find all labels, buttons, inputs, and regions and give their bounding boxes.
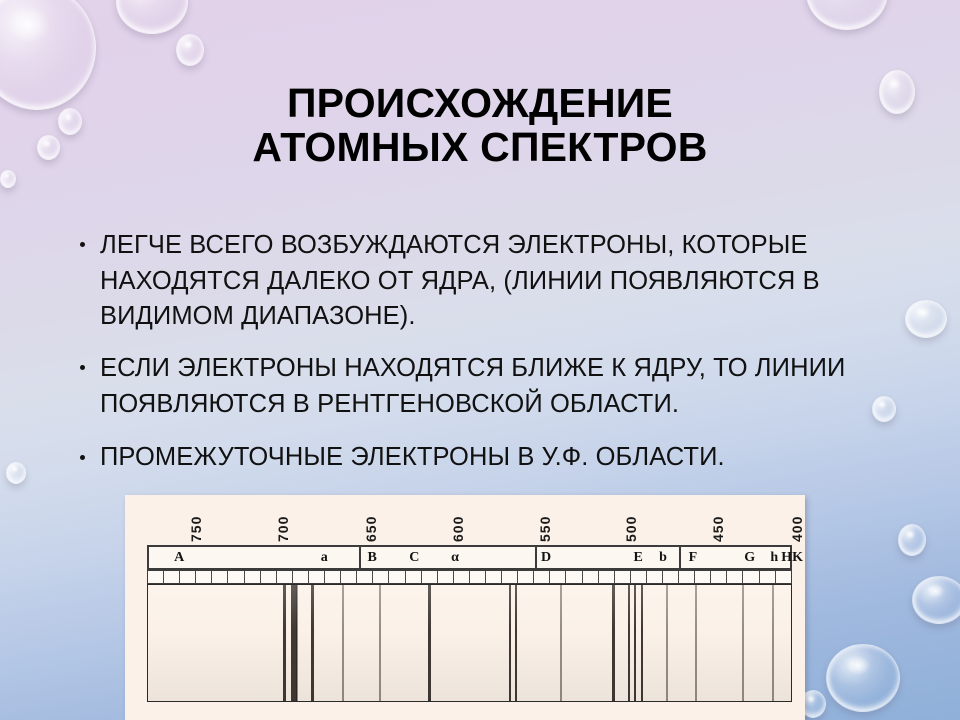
tick-mark <box>631 571 647 583</box>
tick-mark <box>406 571 422 583</box>
title-line-1: ПРОИСХОЖДЕНИЕ <box>287 80 673 126</box>
bullet-dot-icon <box>80 365 85 370</box>
title-line-2: АТОМНЫХ СПЕКТРОВ <box>60 126 900 170</box>
tick-mark <box>647 571 663 583</box>
water-droplet-icon <box>806 0 888 30</box>
water-droplet-icon <box>898 524 926 556</box>
list-item: ЕСЛИ ЭЛЕКТРОНЫ НАХОДЯТСЯ БЛИЖЕ К ЯДРУ, Т… <box>72 351 882 422</box>
tick-mark <box>711 571 727 583</box>
tick-mark <box>357 571 373 583</box>
wavelength-tick-label: 700 <box>275 516 291 542</box>
fraunhofer-line-label: C <box>409 548 419 568</box>
tick-mark <box>277 571 293 583</box>
absorption-line <box>666 585 668 701</box>
absorption-line <box>296 585 298 701</box>
tick-mark <box>550 571 566 583</box>
tick-mark <box>180 571 196 583</box>
tick-mark <box>325 571 341 583</box>
absorption-line <box>379 585 381 701</box>
absorption-line <box>560 585 562 701</box>
tick-mark <box>743 571 759 583</box>
solar-spectrum-figure: 750700650600550500450400 AaBCαDEbFGhHK <box>125 495 805 720</box>
tick-mark <box>341 571 357 583</box>
absorption-line <box>695 585 697 701</box>
wavelength-axis: 750700650600550500450400 <box>125 498 805 546</box>
fraunhofer-line-label: h <box>770 548 778 568</box>
list-item-text: ПРОМЕЖУТОЧНЫЕ ЭЛЕКТРОНЫ В У.Ф. ОБЛАСТИ. <box>100 443 725 471</box>
tick-mark <box>373 571 389 583</box>
wavelength-tick-label: 450 <box>710 516 726 542</box>
list-item: ЛЕГЧЕ ВСЕГО ВОЗБУЖДАЮТСЯ ЭЛЕКТРОНЫ, КОТО… <box>72 228 882 335</box>
tick-mark <box>454 571 470 583</box>
absorption-line <box>311 585 314 701</box>
wavelength-tick-label: 400 <box>789 516 805 542</box>
tick-mark <box>438 571 454 583</box>
tick-mark <box>389 571 405 583</box>
wavelength-tick-label: 550 <box>537 516 553 542</box>
tick-mark <box>293 571 309 583</box>
fraunhofer-line-label: A <box>174 548 184 568</box>
tick-mark <box>583 571 599 583</box>
fraunhofer-group: DEb <box>537 547 681 568</box>
absorption-line <box>628 585 630 701</box>
absorption-line <box>742 585 744 701</box>
fraunhofer-line-label: G <box>744 548 755 568</box>
spectrum-strip <box>147 584 792 702</box>
tick-mark <box>196 571 212 583</box>
water-droplet-icon <box>176 34 204 66</box>
tick-mark <box>164 571 180 583</box>
fraunhofer-line-label: b <box>659 548 667 568</box>
fraunhofer-line-label: E <box>633 548 642 568</box>
fraunhofer-line-label: α <box>451 548 459 568</box>
list-item: ПРОМЕЖУТОЧНЫЕ ЭЛЕКТРОНЫ В У.Ф. ОБЛАСТИ. <box>72 440 882 476</box>
tick-mark <box>486 571 502 583</box>
bullet-dot-icon <box>80 242 85 247</box>
tick-mark <box>534 571 550 583</box>
absorption-line <box>509 585 511 701</box>
tick-mark <box>663 571 679 583</box>
list-item-text: ЛЕГЧЕ ВСЕГО ВОЗБУЖДАЮТСЯ ЭЛЕКТРОНЫ, КОТО… <box>100 231 820 330</box>
absorption-line <box>515 585 517 701</box>
fraunhofer-line-label: F <box>689 548 698 568</box>
absorption-line <box>428 585 431 701</box>
wavelength-tick-label: 600 <box>450 516 466 542</box>
tick-ruler <box>147 570 792 584</box>
absorption-line <box>641 585 643 701</box>
bullet-dot-icon <box>80 455 85 460</box>
tick-mark <box>212 571 228 583</box>
wavelength-tick-label: 500 <box>623 516 639 542</box>
absorption-line <box>772 585 774 701</box>
tick-mark <box>599 571 615 583</box>
tick-mark <box>679 571 695 583</box>
water-droplet-icon <box>37 135 60 160</box>
tick-mark <box>148 571 164 583</box>
tick-mark <box>566 571 582 583</box>
absorption-line <box>634 585 636 701</box>
tick-mark <box>261 571 277 583</box>
fraunhofer-group: FGhHK <box>681 547 790 568</box>
tick-mark <box>760 571 776 583</box>
fraunhofer-line-label: a <box>321 548 328 568</box>
tick-mark <box>309 571 325 583</box>
tick-mark <box>615 571 631 583</box>
water-droplet-icon <box>6 462 26 484</box>
list-item-text: ЕСЛИ ЭЛЕКТРОНЫ НАХОДЯТСЯ БЛИЖЕ К ЯДРУ, Т… <box>100 354 845 418</box>
fraunhofer-group: BCα <box>361 547 537 568</box>
tick-mark <box>470 571 486 583</box>
water-droplet-icon <box>826 644 900 712</box>
tick-mark <box>727 571 743 583</box>
page-title: ПРОИСХОЖДЕНИЕ АТОМНЫХ СПЕКТРОВ <box>60 82 900 170</box>
tick-mark <box>228 571 244 583</box>
wavelength-tick-label: 650 <box>363 516 379 542</box>
water-droplet-icon <box>912 576 960 624</box>
fraunhofer-line-label: B <box>367 548 376 568</box>
fraunhofer-group: Aa <box>149 547 361 568</box>
water-droplet-icon <box>0 170 16 188</box>
water-droplet-icon <box>905 300 947 338</box>
fraunhofer-line-label: HK <box>781 548 803 568</box>
absorption-line <box>283 585 286 701</box>
absorption-line <box>612 585 615 701</box>
tick-mark <box>422 571 438 583</box>
tick-mark <box>502 571 518 583</box>
fraunhofer-label-band: AaBCαDEbFGhHK <box>147 545 792 570</box>
fraunhofer-line-label: D <box>541 548 551 568</box>
water-droplet-icon <box>116 0 188 34</box>
absorption-line <box>342 585 344 701</box>
wavelength-tick-label: 750 <box>188 516 204 542</box>
tick-mark <box>518 571 534 583</box>
bullet-list: ЛЕГЧЕ ВСЕГО ВОЗБУЖДАЮТСЯ ЭЛЕКТРОНЫ, КОТО… <box>72 228 882 476</box>
slide: ПРОИСХОЖДЕНИЕ АТОМНЫХ СПЕКТРОВ ЛЕГЧЕ ВСЕ… <box>0 0 960 720</box>
tick-mark <box>245 571 261 583</box>
tick-mark <box>695 571 711 583</box>
tick-mark <box>776 571 791 583</box>
